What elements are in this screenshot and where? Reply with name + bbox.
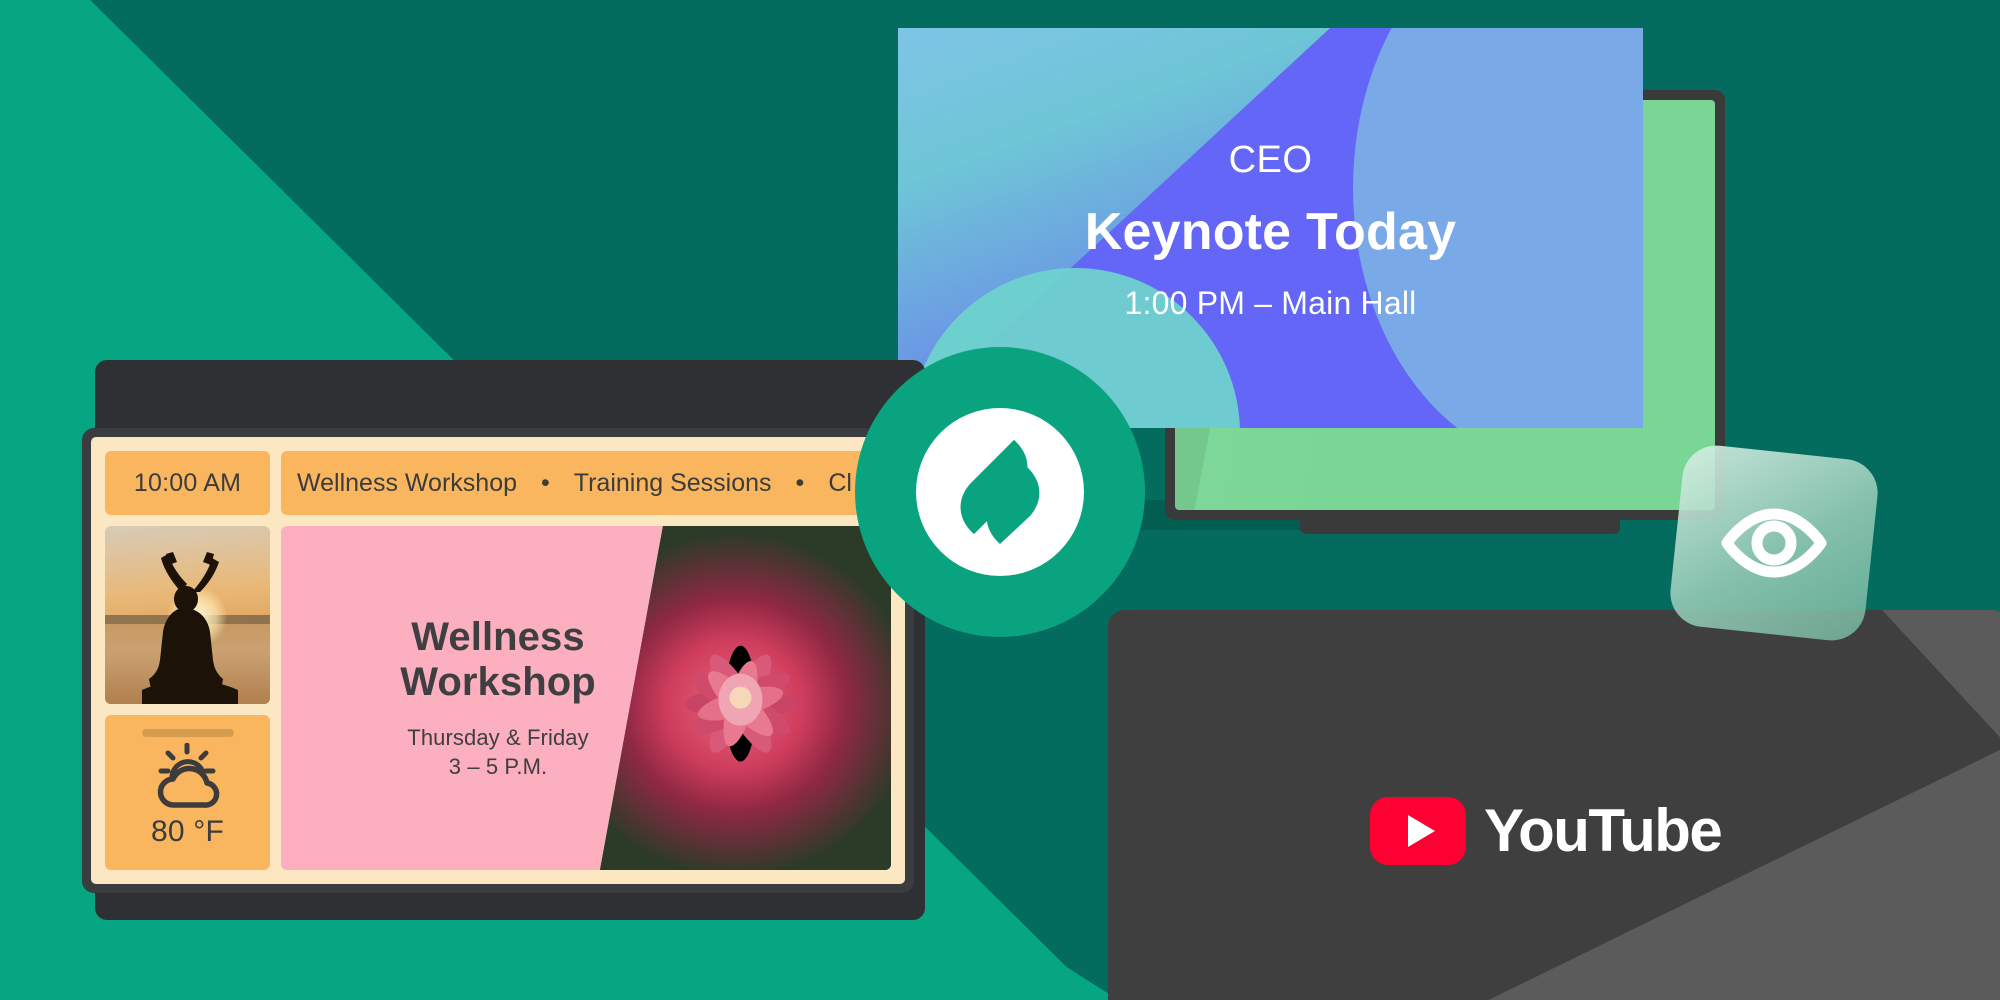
keynote-eyebrow: CEO <box>1229 140 1313 182</box>
display-body-row: 80 °F Wellness Workshop Thursday & Frida… <box>105 526 891 870</box>
eye-icon-tile <box>1667 442 1881 643</box>
brand-logo-inner <box>916 408 1084 576</box>
wellness-promo-subtitle: Thursday & Friday 3 – 5 P.M. <box>333 723 663 781</box>
ticker-item-0: Wellness Workshop <box>297 469 517 498</box>
youtube-wordmark: YouTube <box>1484 796 1721 865</box>
yoga-figure-silhouette <box>128 552 248 704</box>
ticker-item-2: Cl <box>828 469 852 498</box>
youtube-panel: YouTube <box>1108 610 2000 1000</box>
monitor-stand <box>1300 516 1620 534</box>
wellness-promo-sub-line2: 3 – 5 P.M. <box>333 752 663 781</box>
eye-icon <box>1718 505 1830 581</box>
ticker-separator-0: • <box>541 469 550 498</box>
wellness-promo-text: Wellness Workshop Thursday & Friday 3 – … <box>281 615 663 781</box>
wellness-promo-title-line2: Workshop <box>333 660 663 705</box>
keynote-subtitle: 1:00 PM – Main Hall <box>1125 285 1417 322</box>
partly-cloudy-icon <box>146 743 230 809</box>
weather-widget: 80 °F <box>105 715 270 870</box>
youtube-play-icon <box>1370 797 1466 865</box>
yoga-sunset-photo <box>105 526 270 704</box>
keynote-title: Keynote Today <box>1085 204 1456 261</box>
ticker-item-1: Training Sessions <box>574 469 772 498</box>
ticker-separator-1: • <box>796 469 805 498</box>
ticker-row: 10:00 AM Wellness Workshop • Training Se… <box>105 451 891 515</box>
signage-collage-scene: CEO Keynote Today 1:00 PM – Main Hall 10… <box>0 0 2000 1000</box>
lotus-flower-graphic <box>634 600 849 805</box>
wellness-display-screen: 10:00 AM Wellness Workshop • Training Se… <box>91 437 905 884</box>
brand-logo-badge <box>855 347 1145 637</box>
ticker-time: 10:00 AM <box>105 451 270 515</box>
display-side-column: 80 °F <box>105 526 270 870</box>
wellness-promo-title-line1: Wellness <box>333 615 663 660</box>
weather-divider <box>142 729 234 737</box>
wellness-promo-sub-line1: Thursday & Friday <box>333 723 663 752</box>
weather-temperature: 80 °F <box>151 815 224 849</box>
play-triangle <box>1408 815 1435 847</box>
wellness-display-frame: 10:00 AM Wellness Workshop • Training Se… <box>82 428 914 893</box>
wellness-promo-card: Wellness Workshop Thursday & Friday 3 – … <box>281 526 891 870</box>
screencloud-logo-mark <box>948 436 1052 548</box>
ticker-items: Wellness Workshop • Training Sessions • … <box>281 451 891 515</box>
youtube-logo: YouTube <box>1370 796 1721 865</box>
wellness-promo-title: Wellness Workshop <box>333 615 663 705</box>
